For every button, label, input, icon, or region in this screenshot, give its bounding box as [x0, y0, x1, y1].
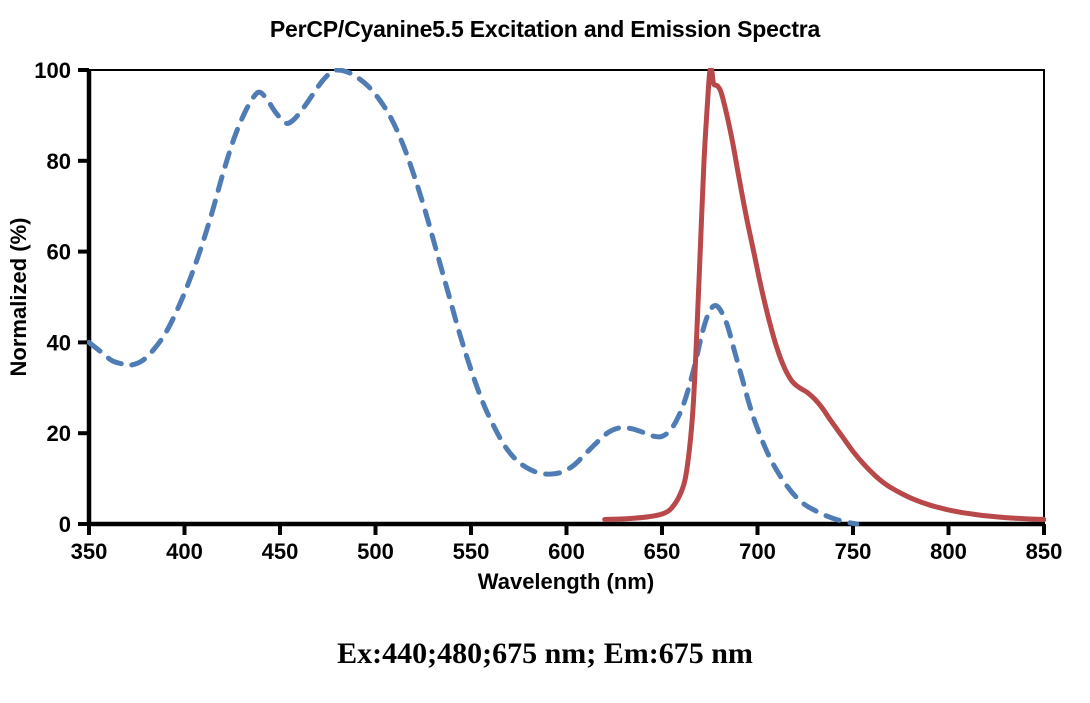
x-tick-label: 550	[453, 539, 490, 564]
data-series-layer	[89, 69, 1044, 524]
series-line-emission	[605, 69, 1044, 520]
spectra-plot: 0204060801003504004505005506006507007508…	[0, 0, 1090, 703]
y-tick-label: 80	[47, 149, 71, 174]
y-tick-label: 100	[34, 58, 71, 83]
x-tick-label: 700	[739, 539, 776, 564]
x-tick-label: 750	[835, 539, 872, 564]
y-tick-label: 20	[47, 421, 71, 446]
x-tick-label: 800	[930, 539, 967, 564]
x-tick-label: 600	[548, 539, 585, 564]
x-tick-label: 350	[71, 539, 108, 564]
spectra-figure: PerCP/Cyanine5.5 Excitation and Emission…	[0, 0, 1090, 703]
x-tick-label: 850	[1026, 539, 1063, 564]
x-tick-label: 450	[262, 539, 299, 564]
y-axis-title: Normalized (%)	[6, 218, 31, 377]
x-tick-label: 500	[357, 539, 394, 564]
x-tick-label: 400	[166, 539, 203, 564]
y-tick-label: 0	[59, 512, 71, 537]
x-axis-title: Wavelength (nm)	[478, 569, 654, 594]
axis-tick-marks	[78, 70, 1044, 535]
series-line-excitation	[89, 70, 857, 524]
y-tick-label: 40	[47, 330, 71, 355]
y-tick-label: 60	[47, 240, 71, 265]
axis-tick-labels: 0204060801003504004505005506006507007508…	[34, 58, 1062, 564]
figure-caption: Ex:440;480;675 nm; Em:675 nm	[0, 637, 1090, 671]
x-tick-label: 650	[644, 539, 681, 564]
